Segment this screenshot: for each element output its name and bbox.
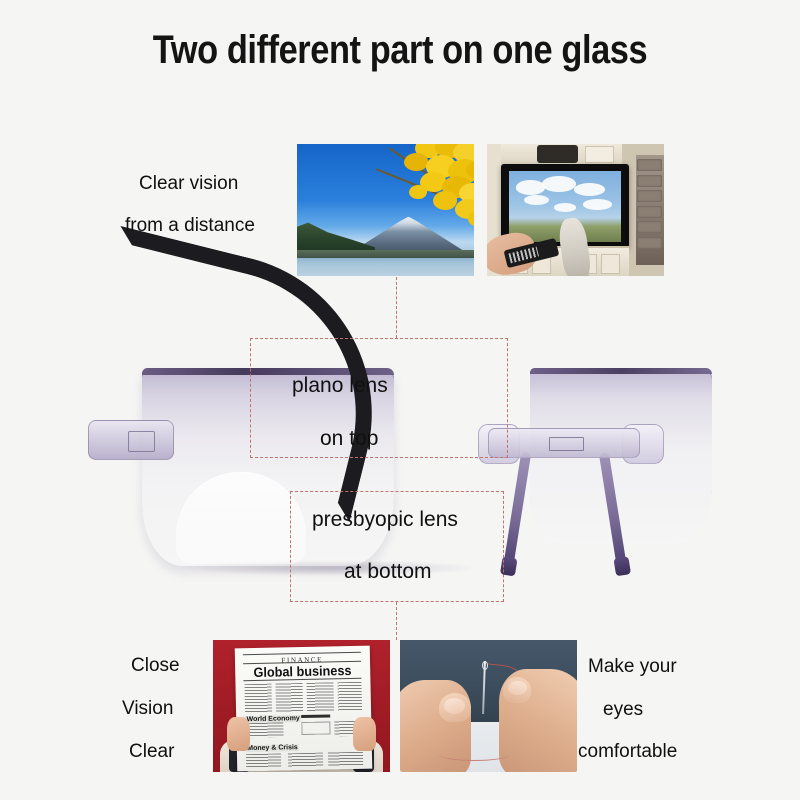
close-vision-label-line2: Vision	[122, 698, 173, 720]
page-title: Two different part on one glass	[56, 28, 744, 73]
plano-lens-callout-box	[250, 338, 508, 458]
presbyopic-lens-label-line2: at bottom	[344, 560, 432, 584]
infographic-canvas: Two different part on one glass	[0, 0, 800, 800]
threading-needle-photo	[400, 640, 577, 772]
leader-line-top	[396, 277, 397, 338]
hand-left	[227, 717, 250, 751]
watching-television-photo	[487, 144, 664, 276]
close-vision-label-line3: Clear	[129, 741, 174, 763]
clear-vision-label-line2: from a distance	[125, 215, 255, 237]
bridge-with-logo	[488, 428, 640, 458]
reading-newspaper-photo: FINANCE Global business World Economy Mo…	[213, 640, 390, 772]
presbyopic-lens-label-line1: presbyopic lens	[312, 508, 458, 532]
close-vision-label-line1: Close	[131, 655, 180, 677]
hinge-end-piece	[88, 420, 174, 460]
clear-vision-label-line1: Clear vision	[139, 173, 238, 195]
comfortable-label-line1: Make your	[588, 656, 677, 678]
newspaper-subhead-1: World Economy	[246, 714, 301, 722]
newspaper-subhead-2: Money & Crisis	[246, 744, 299, 752]
far-temple-arm-left	[503, 452, 531, 570]
comfortable-label-line3: comfortable	[578, 741, 677, 763]
autumn-foliage	[371, 144, 474, 242]
leader-line-bottom	[396, 602, 397, 640]
engraved-logo	[549, 437, 584, 450]
stone-wall	[636, 155, 664, 266]
plano-lens-label-line2: on top	[320, 427, 378, 451]
newspaper: FINANCE Global business World Economy Mo…	[235, 645, 372, 771]
comfortable-label-line2: eyes	[603, 699, 643, 721]
hand-right	[353, 717, 376, 751]
mountain-lake-autumn-photo	[297, 144, 474, 276]
plano-lens-label-line1: plano lens	[292, 374, 388, 398]
